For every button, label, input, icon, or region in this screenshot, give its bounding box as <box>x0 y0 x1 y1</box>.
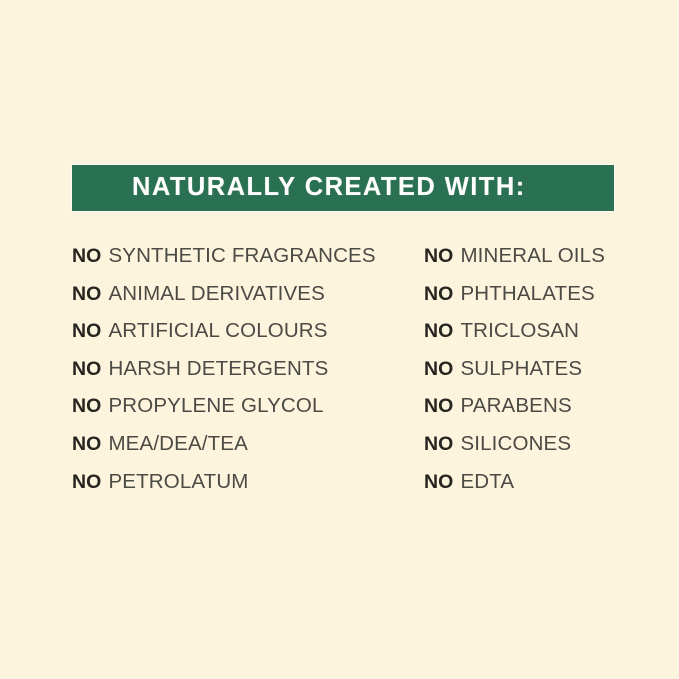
list-item-label: PHTHALATES <box>460 282 594 306</box>
list-item-prefix: NO <box>424 395 453 418</box>
list-item-prefix: NO <box>72 358 101 381</box>
list-item: NO ARTIFICIAL COLOURS <box>72 319 412 357</box>
banner: NATURALLY CREATED WITH: <box>72 165 614 211</box>
banner-title: NATURALLY CREATED WITH: <box>132 175 526 201</box>
list-item-label: SULPHATES <box>460 357 582 381</box>
list-item-prefix: NO <box>424 471 453 494</box>
list-item-label: TRICLOSAN <box>460 319 579 343</box>
list-item-prefix: NO <box>424 245 453 268</box>
list-item: NO PARABENS <box>424 394 669 432</box>
claims-column-right: NO MINERAL OILS NO PHTHALATES NO TRICLOS… <box>424 244 669 507</box>
list-item: NO MINERAL OILS <box>424 244 669 282</box>
list-item-label: MEA/DEA/TEA <box>108 432 248 456</box>
list-item-prefix: NO <box>424 358 453 381</box>
list-item-label: PETROLATUM <box>108 470 248 494</box>
list-item-prefix: NO <box>72 245 101 268</box>
list-item-label: SYNTHETIC FRAGRANCES <box>108 244 375 268</box>
list-item: NO SYNTHETIC FRAGRANCES <box>72 244 412 282</box>
list-item-prefix: NO <box>72 433 101 456</box>
list-item: NO PHTHALATES <box>424 282 669 320</box>
list-item-label: PARABENS <box>460 394 571 418</box>
list-item: NO TRICLOSAN <box>424 319 669 357</box>
claims-column-left: NO SYNTHETIC FRAGRANCES NO ANIMAL DERIVA… <box>72 244 412 507</box>
list-item: NO HARSH DETERGENTS <box>72 357 412 395</box>
ingredient-claims-card: NATURALLY CREATED WITH: NO SYNTHETIC FRA… <box>0 0 679 679</box>
list-item-label: SILICONES <box>460 432 571 456</box>
list-item-label: ANIMAL DERIVATIVES <box>108 282 324 306</box>
list-item-prefix: NO <box>72 395 101 418</box>
list-item: NO EDTA <box>424 470 669 508</box>
list-item: NO PROPYLENE GLYCOL <box>72 394 412 432</box>
list-item-label: ARTIFICIAL COLOURS <box>108 319 327 343</box>
list-item-prefix: NO <box>424 433 453 456</box>
list-item-label: MINERAL OILS <box>460 244 605 268</box>
list-item-prefix: NO <box>72 283 101 306</box>
list-item-prefix: NO <box>72 471 101 494</box>
list-item: NO ANIMAL DERIVATIVES <box>72 282 412 320</box>
list-item-prefix: NO <box>72 320 101 343</box>
list-item-prefix: NO <box>424 283 453 306</box>
list-item: NO PETROLATUM <box>72 470 412 508</box>
list-item: NO SULPHATES <box>424 357 669 395</box>
list-item: NO MEA/DEA/TEA <box>72 432 412 470</box>
list-item-label: PROPYLENE GLYCOL <box>108 394 323 418</box>
list-item-label: HARSH DETERGENTS <box>108 357 328 381</box>
list-item-prefix: NO <box>424 320 453 343</box>
list-item: NO SILICONES <box>424 432 669 470</box>
list-item-label: EDTA <box>460 470 514 494</box>
